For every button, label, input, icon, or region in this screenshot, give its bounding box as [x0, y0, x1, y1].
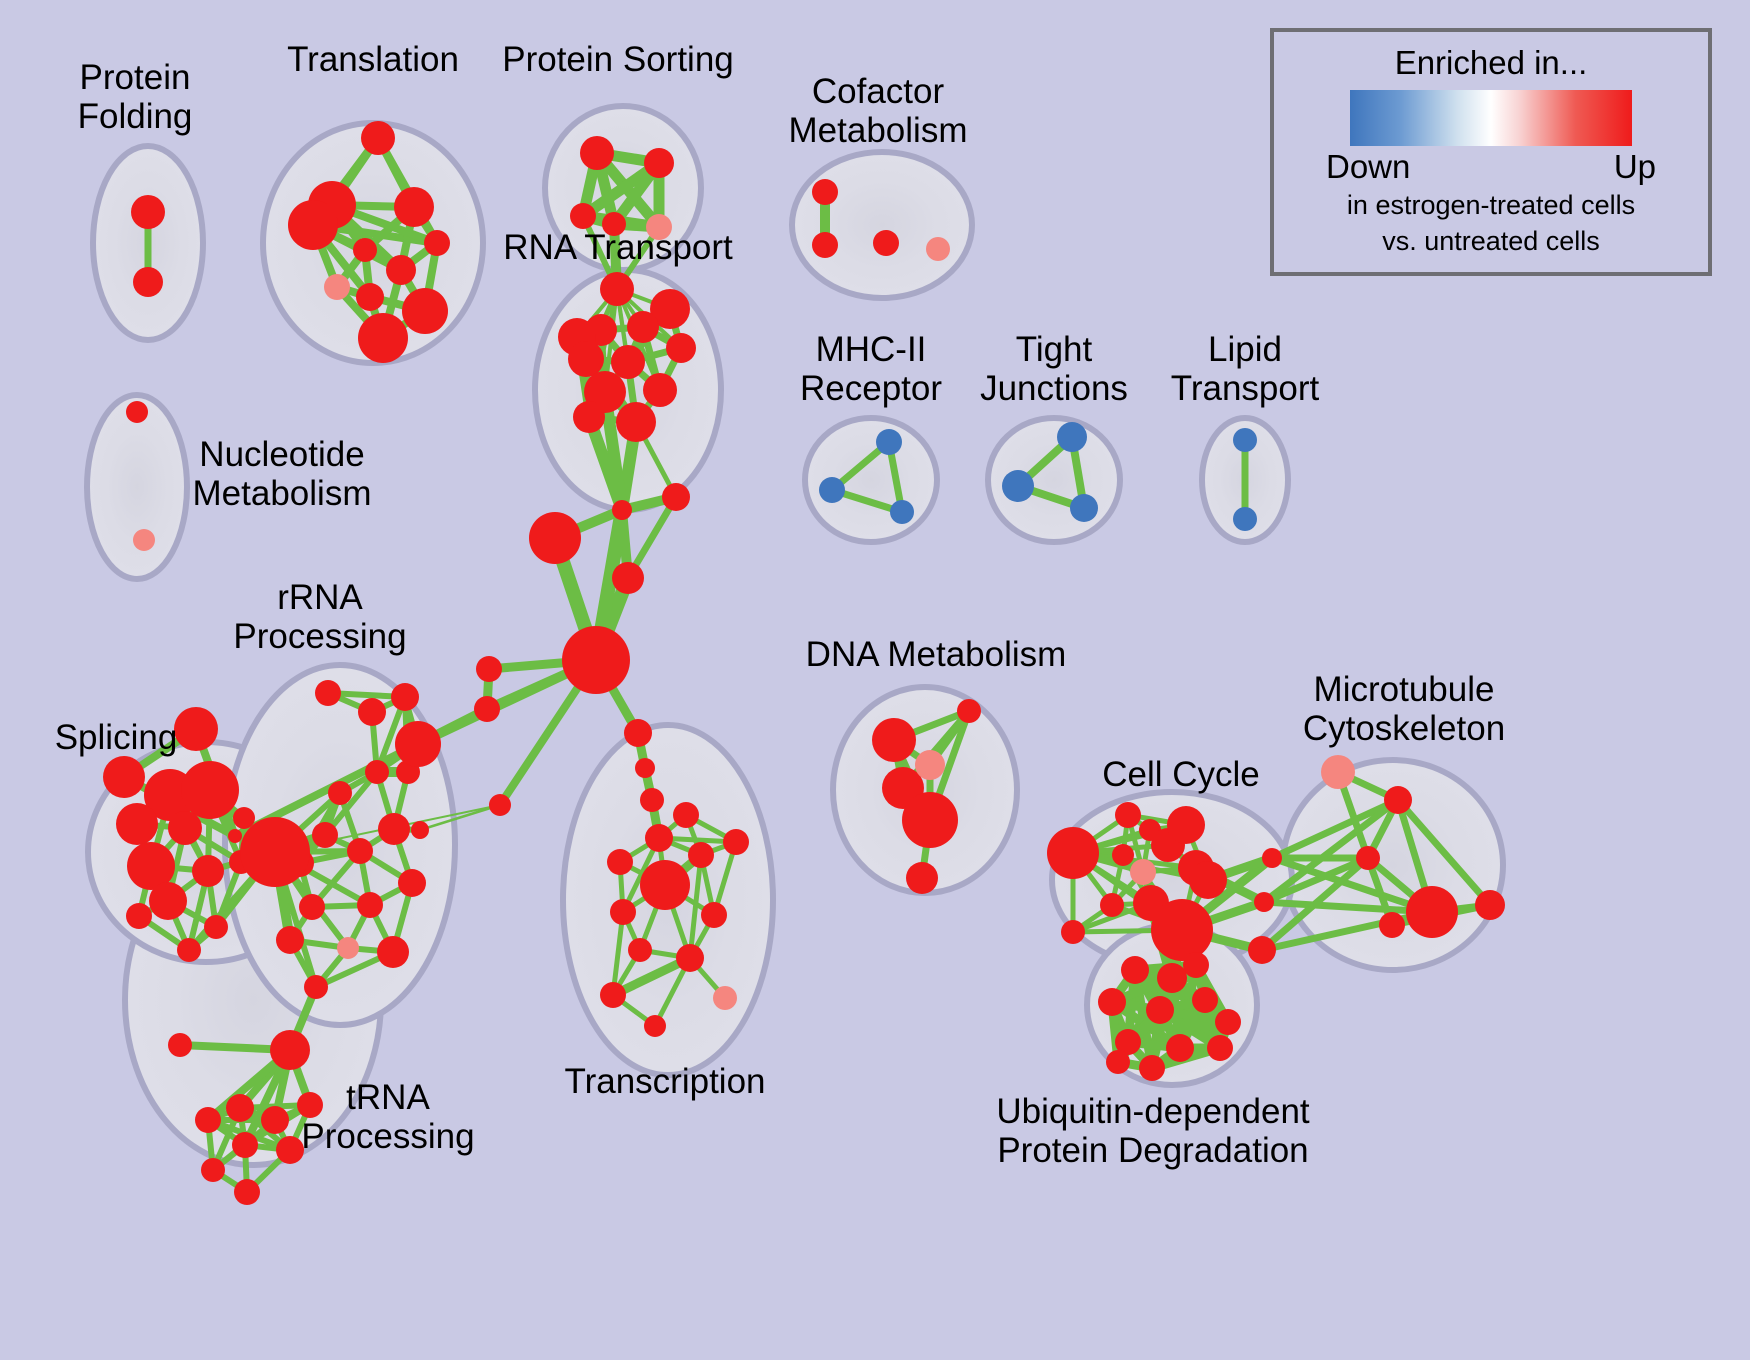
hull-cofactor	[792, 152, 972, 298]
legend-caption-line-2: vs. untreated cells	[1274, 226, 1708, 258]
legend-caption-line-1: in estrogen-treated cells	[1274, 190, 1708, 222]
legend-high-label: Up	[1614, 148, 1656, 186]
legend-endpoint-labels: Down Up	[1326, 148, 1656, 186]
legend-low-label: Down	[1326, 148, 1410, 186]
legend-panel: Enriched in... Down Up in estrogen-treat…	[1270, 28, 1712, 276]
legend-title: Enriched in...	[1274, 44, 1708, 82]
network-diagram-canvas: Protein Folding Translation Protein Sort…	[0, 0, 1750, 1360]
legend-color-gradient-bar	[1350, 90, 1632, 146]
